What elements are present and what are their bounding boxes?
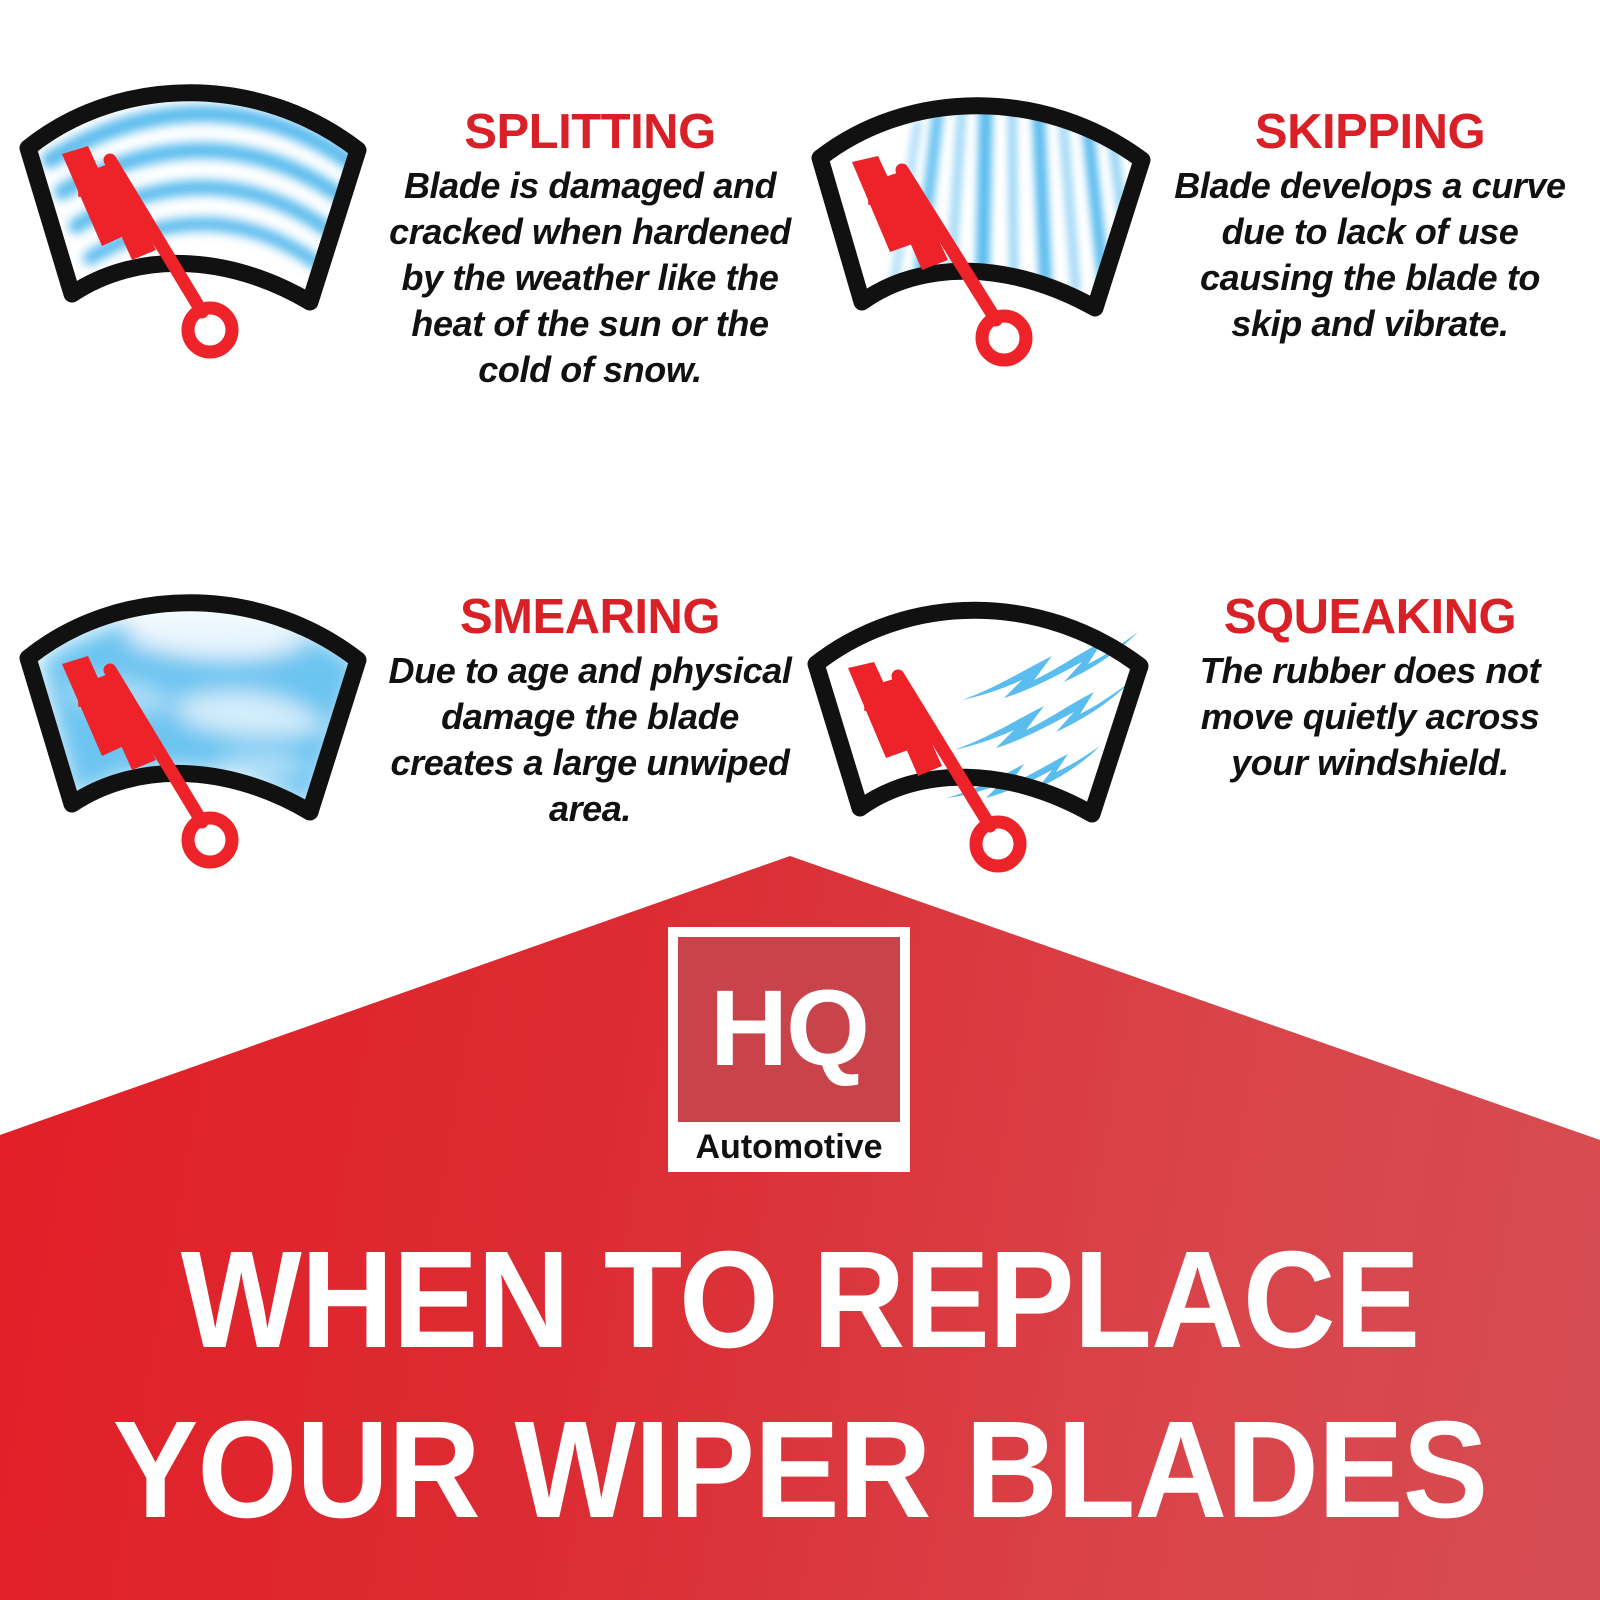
card-title-squeaking: SQUEAKING xyxy=(1165,590,1575,644)
card-text-skipping: SKIPPING Blade develops a curve due to l… xyxy=(1165,105,1575,347)
card-title-skipping: SKIPPING xyxy=(1165,105,1575,159)
card-text-smearing: SMEARING Due to age and physical damage … xyxy=(385,590,795,832)
card-text-squeaking: SQUEAKING The rubber does not move quiet… xyxy=(1165,590,1575,786)
card-body-smearing: Due to age and physical damage the blade… xyxy=(385,648,795,832)
card-body-squeaking: The rubber does not move quietly across … xyxy=(1165,648,1575,786)
page-title: WHEN TO REPLACE YOUR WIPER BLADES xyxy=(0,1215,1600,1555)
logo-mark-text: HQ xyxy=(710,974,868,1082)
windshield-wiper-squeaking-icon xyxy=(790,550,1170,880)
logo-wordmark: Automotive xyxy=(678,1122,900,1172)
logo-square: HQ xyxy=(678,937,900,1122)
page-title-line-2: YOUR WIPER BLADES xyxy=(56,1385,1544,1555)
card-body-splitting: Blade is damaged and cracked when harden… xyxy=(385,163,795,393)
card-title-splitting: SPLITTING xyxy=(385,105,795,159)
infographic-page: SPLITTING Blade is damaged and cracked w… xyxy=(0,0,1600,1600)
windshield-wiper-skipping-icon xyxy=(790,40,1170,370)
page-title-line-1: WHEN TO REPLACE xyxy=(56,1215,1544,1385)
windshield-wiper-splitting-icon xyxy=(10,40,390,370)
windshield-wiper-smearing-icon xyxy=(10,550,390,880)
hq-automotive-logo: HQ Automotive xyxy=(668,927,910,1172)
card-body-skipping: Blade develops a curve due to lack of us… xyxy=(1165,163,1575,347)
card-title-smearing: SMEARING xyxy=(385,590,795,644)
card-text-splitting: SPLITTING Blade is damaged and cracked w… xyxy=(385,105,795,393)
